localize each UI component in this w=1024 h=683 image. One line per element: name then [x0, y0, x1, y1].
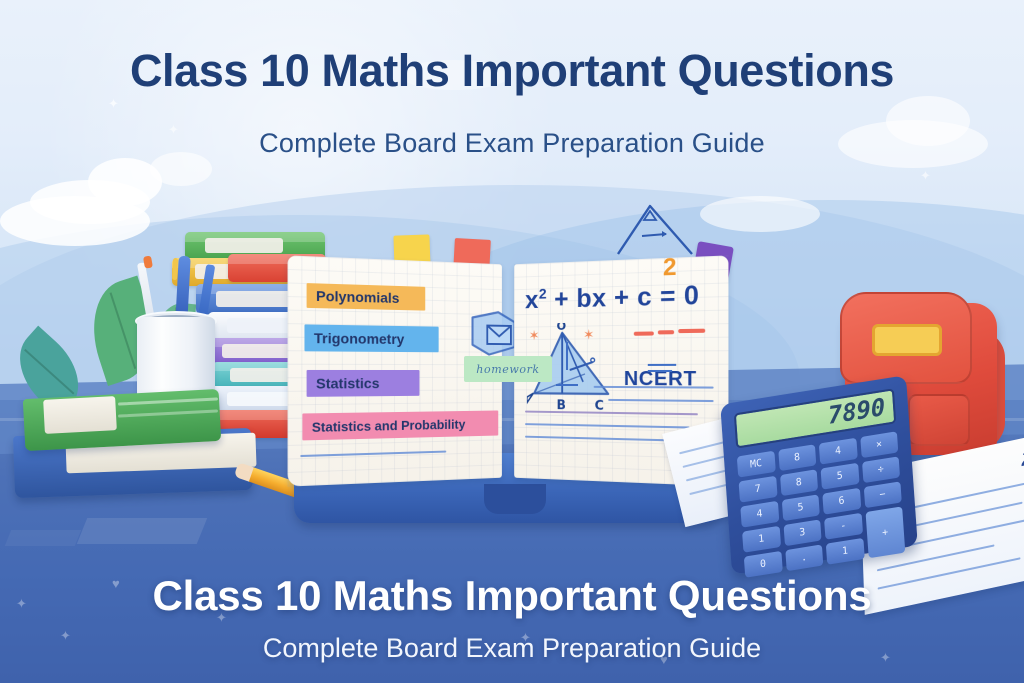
open-textbook: Polynomials Trigonometry Statistics Stat…: [288, 238, 728, 530]
cloud-7: [700, 196, 820, 232]
calculator-keypad[interactable]: MC 8 4 × 7 8 5 ÷ 4 5 6 − 1 3 - + 0 . 1: [737, 431, 905, 578]
calculator-key[interactable]: ×: [860, 431, 899, 458]
book-spine-notch: [484, 484, 546, 514]
calculator-key[interactable]: MC: [737, 451, 776, 478]
svg-text:O: O: [557, 322, 567, 333]
topic-label-trigonometry: Trigonometry: [314, 330, 404, 347]
sparkle-sky-3: ✦: [920, 168, 931, 184]
equation-exponent: 2: [539, 286, 547, 303]
calculator-key[interactable]: 4: [819, 438, 858, 465]
topic-label-statistics: Statistics: [316, 375, 379, 392]
calculator-key[interactable]: 5: [821, 463, 860, 490]
topic-highlight-trigonometry[interactable]: Trigonometry: [304, 324, 438, 352]
cloud-4: [0, 196, 150, 246]
calculator-key[interactable]: 8: [780, 469, 819, 496]
page-title-bottom: Class 10 Maths Important Questions: [0, 572, 1024, 620]
calculator[interactable]: 7890 MC 8 4 × 7 8 5 ÷ 4 5 6 − 1 3 - + 0 …: [720, 375, 918, 575]
equation-x: x: [525, 285, 539, 314]
calculator-key[interactable]: 4: [740, 501, 779, 528]
blue-tick-mark: [566, 342, 568, 370]
desk-light-patch-2: [5, 530, 81, 546]
calculator-key[interactable]: 6: [822, 488, 861, 515]
page-line: [608, 399, 713, 402]
star-mark-1: ✶: [529, 327, 540, 344]
backpack-badge: [872, 324, 942, 356]
star-mark-2: ✶: [583, 326, 594, 343]
desk-book-green-pages: [43, 396, 117, 434]
page-subtitle-bottom: Complete Board Exam Preparation Guide: [0, 633, 1024, 664]
backpack-pocket: [908, 394, 970, 446]
page-line: [525, 436, 670, 442]
calculator-key[interactable]: 3: [783, 519, 822, 546]
blue-cross-mark: [556, 384, 578, 386]
page-line: [525, 411, 697, 416]
topic-highlight-probability[interactable]: Statistics and Probability: [302, 410, 498, 440]
calculator-key[interactable]: 1: [742, 526, 781, 553]
calculator-key[interactable]: ÷: [862, 456, 901, 483]
page-line: [525, 423, 689, 428]
page-subtitle-top: Complete Board Exam Preparation Guide: [0, 128, 1024, 159]
desk-light-patch-1: [77, 518, 208, 544]
calculator-key[interactable]: −: [863, 481, 902, 508]
topic-highlight-polynomials[interactable]: Polynomials: [307, 283, 426, 311]
page-line: [594, 386, 714, 389]
poster-canvas: ✦ ✦ ✦ ✦ ♥ ✦ ✦ ✦ ♥ ✦: [0, 0, 1024, 683]
sparkle-sky-1: ✦: [108, 96, 119, 112]
calculator-key[interactable]: 5: [781, 494, 820, 521]
calculator-key[interactable]: 8: [778, 444, 817, 471]
red-dash-mark-1: [634, 331, 654, 335]
equation-rest: + bx + c = 0: [547, 279, 699, 313]
topic-label-probability: Statistics and Probability: [312, 416, 466, 434]
calculator-key-plus[interactable]: +: [865, 506, 905, 558]
red-dash-mark-3: [678, 329, 705, 334]
topic-highlight-statistics[interactable]: Statistics: [307, 370, 420, 397]
calculator-key[interactable]: 7: [739, 476, 778, 503]
envelope-cube-icon: [467, 306, 520, 363]
topic-label-polynomials: Polynomials: [316, 287, 399, 306]
scribble-text: homework: [476, 363, 539, 376]
margin-number: 2: [663, 253, 677, 282]
quadratic-equation: x2 + bx + c = 0: [525, 279, 699, 315]
calculator-key[interactable]: -: [824, 513, 863, 540]
red-dash-mark-2: [658, 330, 674, 334]
green-scribble-note: homework: [464, 356, 552, 382]
ncert-underline-group: [648, 364, 676, 372]
page-title-top: Class 10 Maths Important Questions: [0, 45, 1024, 97]
